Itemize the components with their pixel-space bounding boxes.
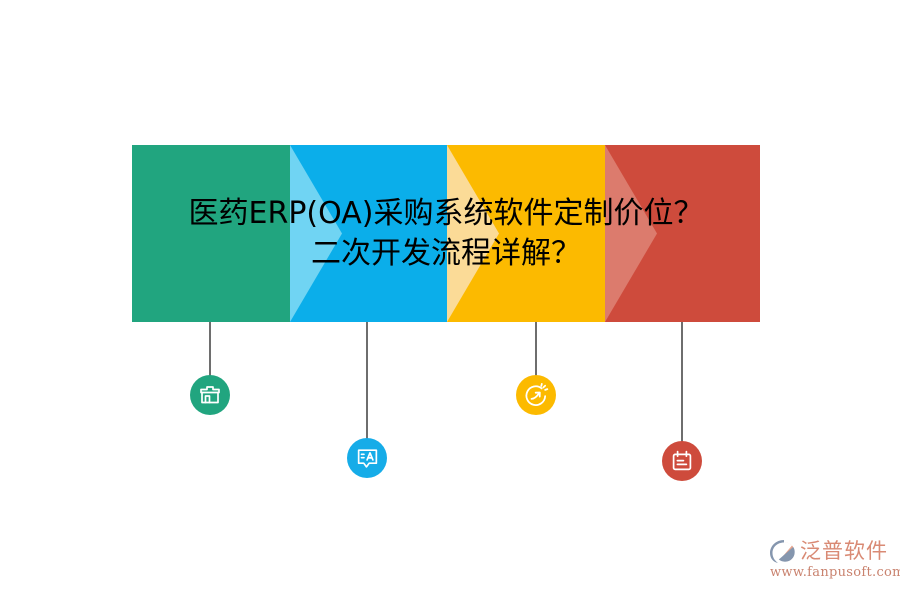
growth-icon [524, 383, 549, 408]
connector-4 [681, 322, 683, 445]
icon-bubble-growth[interactable] [516, 375, 556, 415]
segment-green [132, 145, 290, 322]
fanpu-logo-icon [768, 538, 796, 564]
calendar-icon [670, 449, 694, 473]
banner-strip [132, 145, 760, 322]
translate-icon [355, 446, 380, 471]
connector-3 [535, 322, 537, 378]
connector-1 [209, 322, 211, 378]
store-icon [198, 383, 222, 407]
brand-name: 泛普软件 [800, 539, 888, 563]
poster-canvas: 医药ERP(OA)采购系统软件定制价位？ 二次开发流程详解？ [0, 0, 900, 600]
segment-yellow [447, 145, 605, 322]
icon-bubble-calendar[interactable] [662, 441, 702, 481]
segment-red [605, 145, 760, 322]
icon-bubble-store[interactable] [190, 375, 230, 415]
connector-2 [366, 322, 368, 445]
brand-url: www.fanpusoft.com [770, 565, 900, 580]
icon-bubble-translate[interactable] [347, 438, 387, 478]
brand-watermark: 泛普软件 www.fanpusoft.com [768, 533, 894, 585]
segment-blue [290, 145, 447, 322]
